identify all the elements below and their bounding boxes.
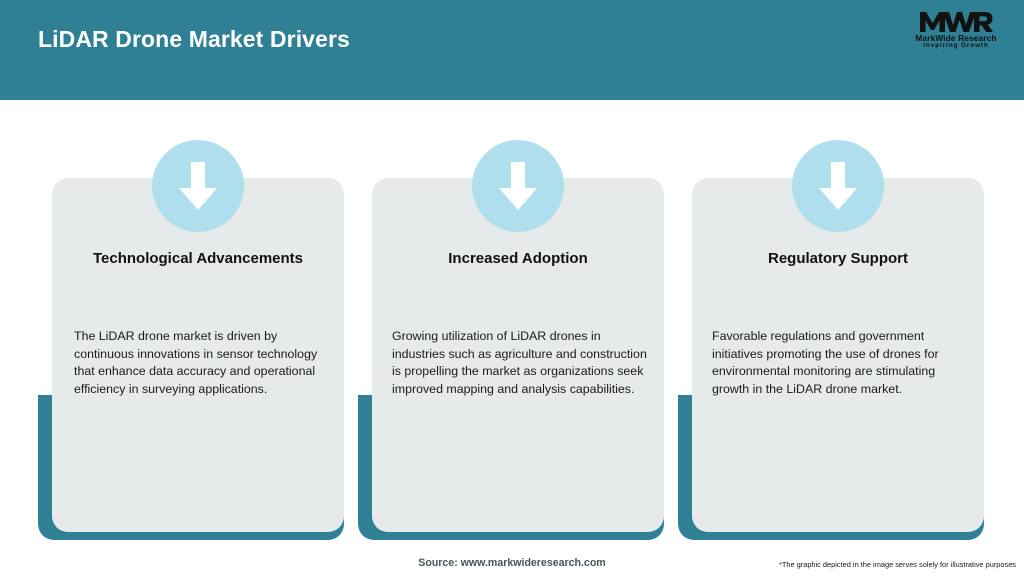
brand-logo: MarkWide Research Inspiring Growth	[904, 11, 1008, 57]
arrow-down-icon	[472, 140, 564, 232]
disclaimer-note: *The graphic depicted in the image serve…	[779, 560, 1016, 569]
driver-card-1[interactable]: Technological Advancements The LiDAR dro…	[38, 100, 368, 540]
driver-card-2[interactable]: Increased Adoption Growing utilization o…	[358, 100, 688, 540]
logo-tagline: Inspiring Growth	[904, 43, 1008, 49]
card-body-text: Favorable regulations and government ini…	[712, 328, 974, 398]
arrow-down-icon	[792, 140, 884, 232]
arrow-down-icon	[152, 140, 244, 232]
mwr-logo-icon	[919, 11, 993, 33]
page-title: LiDAR Drone Market Drivers	[38, 26, 350, 53]
card-title: Regulatory Support	[692, 250, 984, 267]
card-title: Technological Advancements	[52, 250, 344, 267]
card-title: Increased Adoption	[372, 250, 664, 267]
card-body-text: Growing utilization of LiDAR drones in i…	[392, 328, 654, 398]
drivers-card-row: Technological Advancements The LiDAR dro…	[0, 100, 1024, 540]
card-body-text: The LiDAR drone market is driven by cont…	[74, 328, 324, 398]
driver-card-3[interactable]: Regulatory Support Favorable regulations…	[678, 100, 1008, 540]
logo-company-name: MarkWide Research	[904, 34, 1008, 42]
